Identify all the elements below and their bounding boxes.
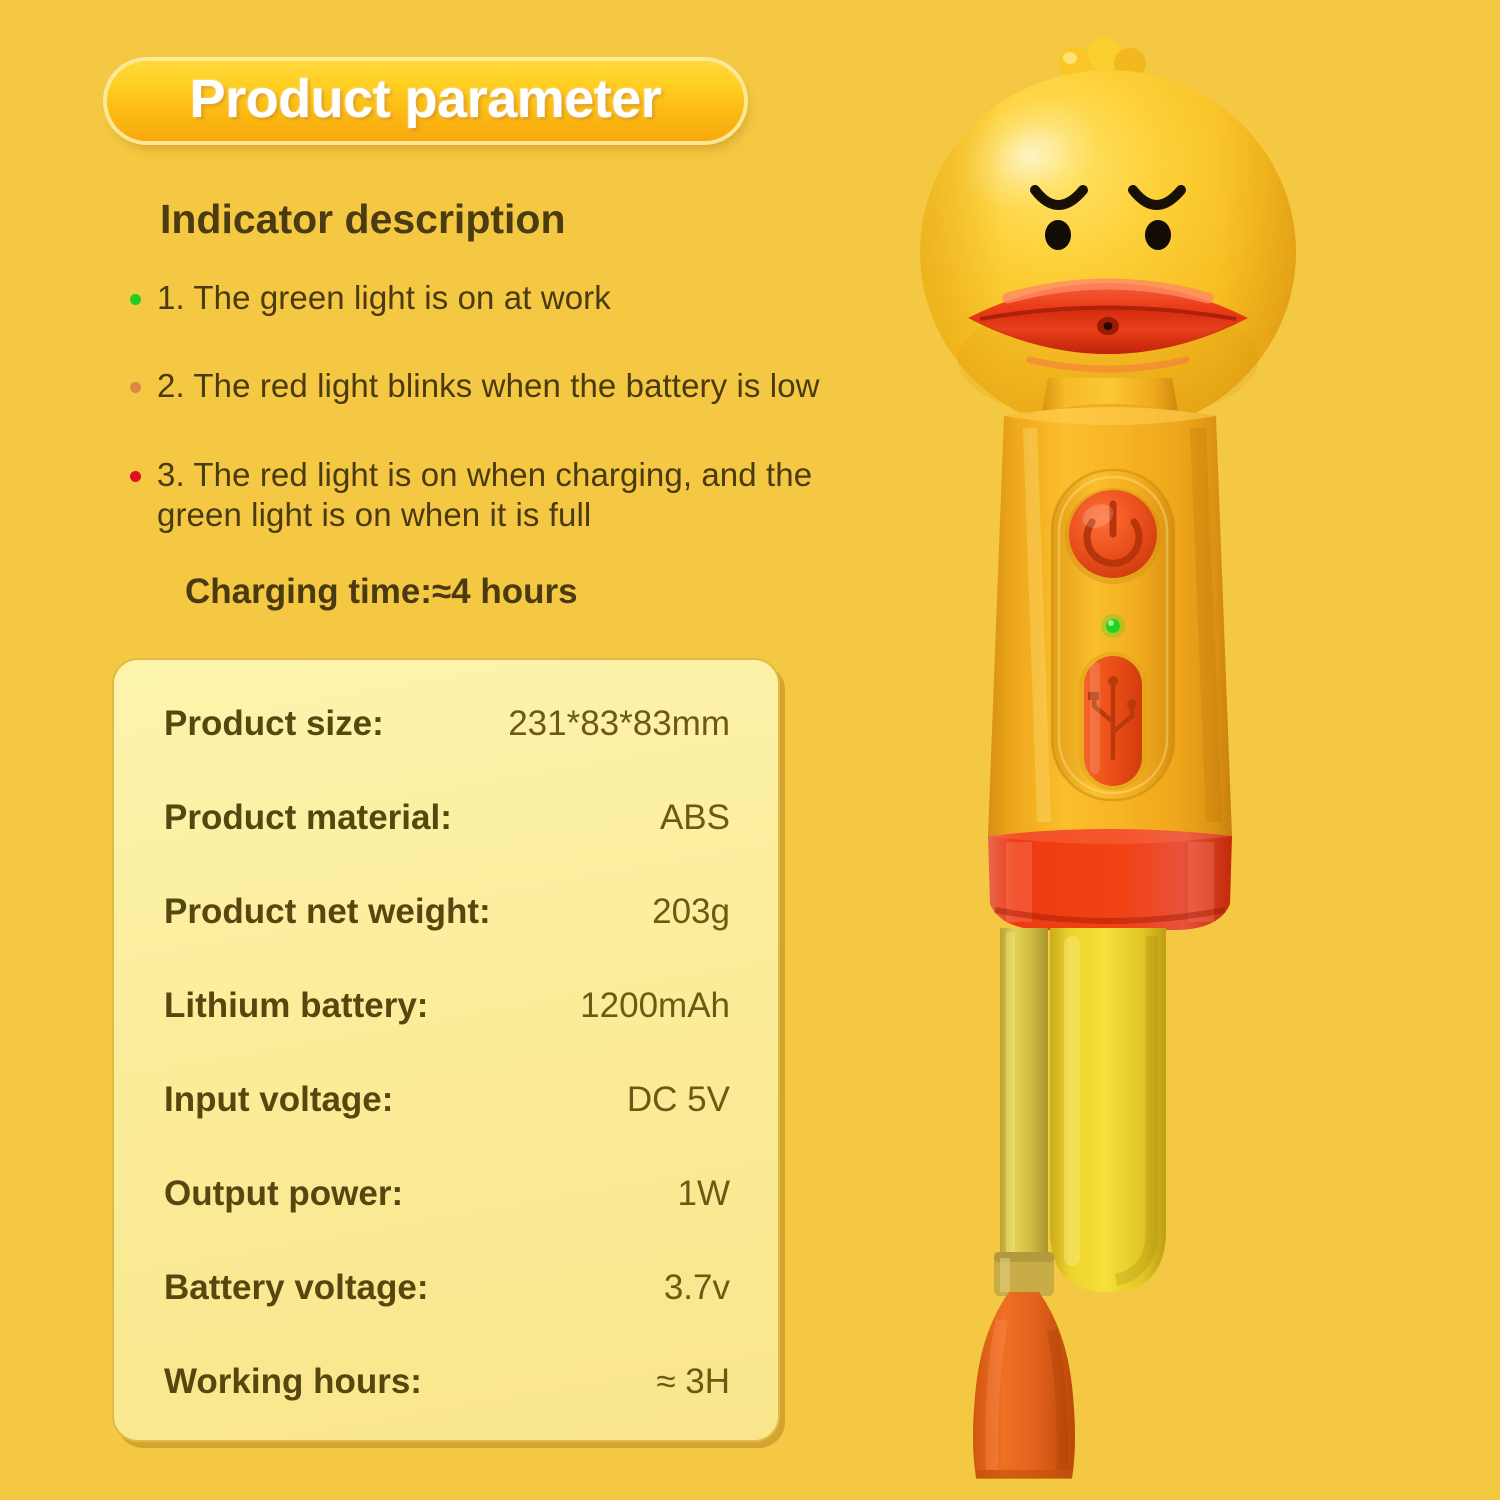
table-row: Product material: ABS	[164, 798, 730, 892]
spec-value: ABS	[660, 798, 730, 838]
table-row: Product size: 231*83*83mm	[164, 704, 730, 798]
usb-port-cover[interactable]	[1079, 652, 1147, 790]
table-row: Working hours: ≈ 3H	[164, 1362, 730, 1456]
product-image	[880, 30, 1380, 1480]
collar-band	[988, 829, 1232, 930]
spec-label: Working hours:	[164, 1362, 422, 1402]
spec-value: 1200mAh	[580, 986, 730, 1026]
spec-value: DC 5V	[627, 1080, 730, 1120]
status-led-indicator	[1101, 614, 1125, 638]
page-title: Product parameter	[190, 68, 662, 130]
whisk-shaft	[994, 928, 1054, 1296]
red-light-bullet-icon	[130, 471, 141, 482]
power-button[interactable]	[1065, 488, 1161, 584]
list-item: 1. The green light is on at work	[130, 278, 850, 318]
spec-label: Output power:	[164, 1174, 403, 1214]
table-row: Input voltage: DC 5V	[164, 1080, 730, 1174]
spec-value: ≈ 3H	[656, 1362, 730, 1402]
spec-label: Lithium battery:	[164, 986, 428, 1026]
whisk-paddle	[973, 1292, 1075, 1479]
spec-value: 231*83*83mm	[508, 704, 730, 744]
green-light-bullet-icon	[130, 294, 141, 305]
orange-light-bullet-icon	[130, 382, 141, 393]
spec-label: Input voltage:	[164, 1080, 393, 1120]
attachment-cap	[1050, 928, 1166, 1292]
spec-value: 1W	[678, 1174, 731, 1214]
list-item-label: 3. The red light is on when charging, an…	[157, 455, 820, 536]
page-title-banner: Product parameter	[107, 61, 744, 141]
indicator-description-heading: Indicator description	[160, 196, 566, 243]
spec-value: 3.7v	[664, 1268, 730, 1308]
list-item-label: 2. The red light blinks when the battery…	[157, 366, 820, 406]
table-row: Product net weight: 203g	[164, 892, 730, 986]
eye-right-icon	[1145, 220, 1171, 250]
spec-label: Product net weight:	[164, 892, 491, 932]
infographic-page: Product parameter Indicator description …	[0, 0, 1500, 1500]
spec-label: Product size:	[164, 704, 384, 744]
table-row: Lithium battery: 1200mAh	[164, 986, 730, 1080]
table-row: Battery voltage: 3.7v	[164, 1268, 730, 1362]
eye-left-icon	[1045, 220, 1071, 250]
list-item: 3. The red light is on when charging, an…	[130, 455, 820, 536]
spec-label: Battery voltage:	[164, 1268, 429, 1308]
list-item: 2. The red light blinks when the battery…	[130, 366, 850, 406]
product-specification-card: Product size: 231*83*83mm Product materi…	[112, 658, 780, 1442]
table-row: Output power: 1W	[164, 1174, 730, 1268]
charging-time-label: Charging time:≈4 hours	[185, 572, 578, 612]
list-item-label: 1. The green light is on at work	[157, 278, 611, 318]
indicator-bullet-list: 1. The green light is on at work 2. The …	[130, 278, 850, 563]
spec-label: Product material:	[164, 798, 452, 838]
spec-value: 203g	[652, 892, 730, 932]
